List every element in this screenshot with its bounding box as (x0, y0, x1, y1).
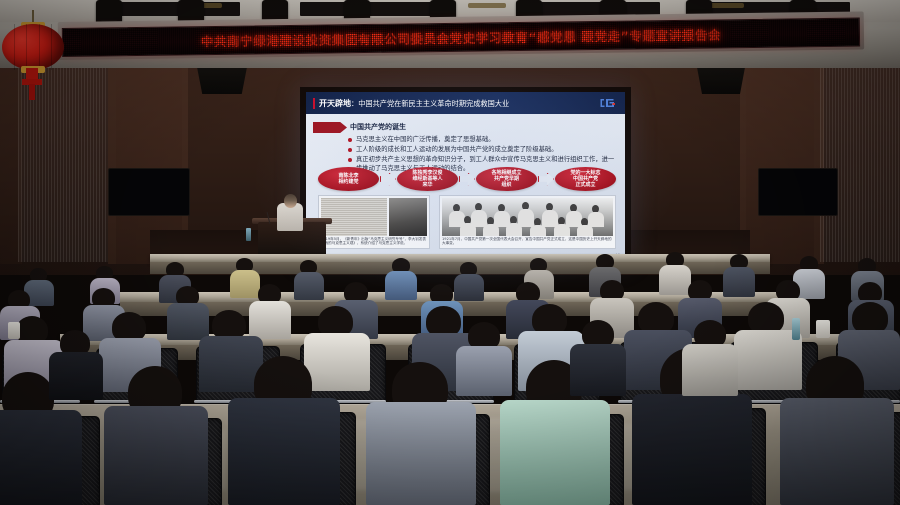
newspaper-and-portrait: 1919年5月，《新青年》出版“马克思主义研究专号”，李大钊发表《我的马克思主义… (318, 195, 430, 249)
list-item: 工人阶级的成长和工人运动的发展为中国共产党的成立奠定了阶级基础。 (348, 146, 616, 155)
photo-caption: 1919年5月，《新青年》出版“马克思主义研究专号”，李大钊发表《我的马克思主义… (321, 237, 427, 246)
lantern-rib-3 (39, 24, 40, 70)
wall-mounted-display-left (108, 168, 190, 216)
slide-header: 开天辟地：中国共产党在新民主主义革命时期完成救国大业 (306, 92, 625, 114)
water-bottle-desk-right (792, 318, 800, 340)
presentation-slide: 开天辟地：中国共产党在新民主主义革命时期完成救国大业 中国共产党的诞生 马克思主… (306, 92, 625, 259)
banner-text: 中共南宁绿港建设投资集团有限公司委员会党史学习教育“感党恩 跟党走”专题宣讲报告… (201, 24, 722, 50)
bullet-text: 马克思主义在中国的广泛传播，奠定了思想基础。 (356, 136, 495, 145)
slide-title: 开天辟地：中国共产党在新民主主义革命时期完成救国大业 (319, 98, 509, 109)
flow-arrow-icon-2 (459, 173, 475, 186)
lantern-rib-1 (14, 24, 15, 70)
bullet-dot-icon (348, 138, 352, 142)
newspaper-scan-image (321, 198, 387, 236)
list-item: 马克思主义在中国的广泛传播，奠定了思想基础。 (348, 136, 616, 145)
slide-flow-diagram: 南陈北李相约建党 陈独秀李汉俊维经斯基等人来华 各地相继成立共产党早期组织 党的… (318, 166, 616, 192)
flow-node-2: 陈独秀李汉俊维经斯基等人来华 (397, 167, 458, 191)
lg-brand-logo (599, 98, 616, 108)
bullet-dot-icon (348, 158, 352, 162)
flow-arrow-icon-3 (538, 173, 554, 186)
lantern-tassel-bottom (29, 84, 35, 100)
flow-node-4: 党的一大标志中国共产党正式成立 (555, 167, 616, 191)
lantern-body (2, 24, 64, 70)
first-congress-group-photo: 1921年7月，中国共产党第一次全国代表大会召开，宣告中国共产党正式成立，这是中… (439, 195, 616, 249)
wall-glass-right (820, 66, 900, 262)
presenter-head (284, 194, 297, 208)
photo-image-left (321, 198, 427, 236)
photo-caption: 1921年7月，中国共产党第一次全国代表大会召开，宣告中国共产党正式成立，这是中… (442, 237, 613, 246)
conference-hall-photo: 中共南宁绿港建设投资集团有限公司委员会党史学习教育“感党恩 跟党走”专题宣讲报告… (0, 0, 900, 505)
lantern-rib-2 (26, 24, 27, 70)
paper-cup-desk-left (8, 322, 20, 339)
flow-node-3: 各地相继成立共产党早期组织 (476, 167, 537, 191)
section-tag-shape (313, 122, 347, 133)
slide-title-highlight: 开天辟地 (319, 99, 351, 108)
portrait-photo-image (389, 198, 427, 236)
slide-title-rest: 中国共产党在新民主主义革命时期完成救国大业 (358, 99, 509, 108)
group-photo-image (442, 198, 613, 236)
paper-cup-desk-right (816, 320, 830, 338)
wall-panel-right (746, 64, 818, 264)
slide-section-title: 中国共产党的诞生 (350, 122, 406, 132)
lantern-rib-4 (51, 24, 52, 70)
photo-image-right (442, 198, 613, 236)
red-lantern (2, 10, 72, 100)
flow-arrow-icon-1 (380, 173, 396, 186)
wall-mounted-display-right (758, 168, 838, 216)
slide-header-accent (313, 98, 315, 109)
slide-photo-row: 1919年5月，《新青年》出版“马克思主义研究专号”，李大钊发表《我的马克思主义… (318, 195, 616, 249)
water-bottle (246, 228, 251, 241)
ceiling-light-strip-2 (468, 3, 506, 8)
flow-node-1: 南陈北李相约建党 (318, 167, 379, 191)
ceiling-rail-2 (300, 2, 450, 16)
bullet-text: 工人阶级的成长和工人运动的发展为中国共产党的成立奠定了阶级基础。 (356, 146, 558, 155)
bullet-dot-icon (348, 148, 352, 152)
